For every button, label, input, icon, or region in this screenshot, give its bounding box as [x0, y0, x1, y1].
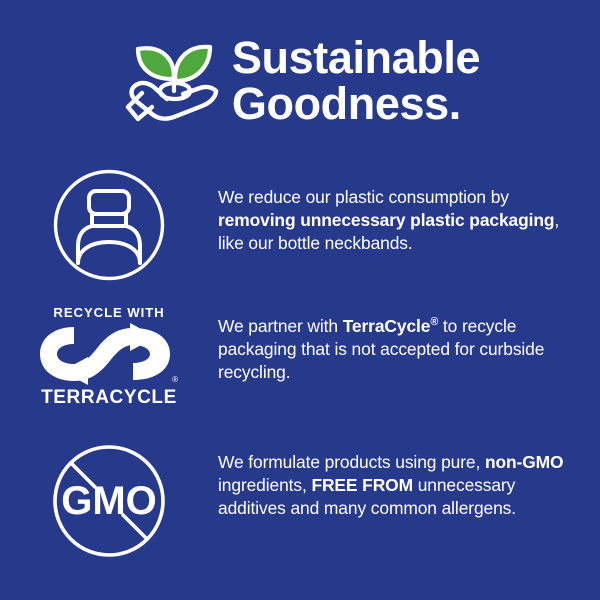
feature-row-terracycle: RECYCLE WITH ® TERRACYCLE — [0, 305, 600, 420]
terracycle-top-label: RECYCLE WITH — [53, 305, 164, 320]
feature-icon-cell: RECYCLE WITH ® TERRACYCLE — [0, 305, 218, 409]
page-title-line-2: Goodness. — [232, 81, 480, 127]
feature-row-plastic: We reduce our plastic consumption by rem… — [0, 168, 600, 288]
hand-holding-sprout-icon — [120, 31, 224, 131]
page-title-line-1: Sustainable — [232, 35, 480, 81]
feature-text-cell: We reduce our plastic consumption by rem… — [218, 168, 600, 255]
page-title: Sustainable Goodness. — [232, 35, 480, 127]
feature-row-non-gmo: GMO We formulate products using pure, no… — [0, 443, 600, 568]
feature-text-cell: We formulate products using pure, non-GM… — [218, 443, 600, 520]
feature-text-non-gmo: We formulate products using pure, non-GM… — [218, 451, 582, 520]
feature-icon-cell: GMO — [0, 443, 218, 559]
registered-mark: ® — [172, 376, 178, 384]
terracycle-infinity-mark: ® — [38, 323, 180, 385]
no-gmo-label: GMO — [61, 479, 157, 523]
poster-header: Sustainable Goodness. — [0, 26, 600, 136]
feature-icon-cell — [0, 168, 218, 282]
plastic-bottle-in-circle-icon — [52, 168, 166, 282]
terracycle-logo-icon: RECYCLE WITH ® TERRACYCLE — [38, 305, 180, 409]
feature-text-terracycle: We partner with TerraCycle® to recycle p… — [218, 315, 582, 384]
feature-text-cell: We partner with TerraCycle® to recycle p… — [218, 305, 600, 384]
sustainability-poster: Sustainable Goodness. We reduce our plas… — [0, 0, 600, 600]
no-gmo-icon: GMO — [51, 443, 167, 559]
feature-text-plastic: We reduce our plastic consumption by rem… — [218, 186, 582, 255]
terracycle-bottom-label: TERRACYCLE — [41, 387, 177, 409]
